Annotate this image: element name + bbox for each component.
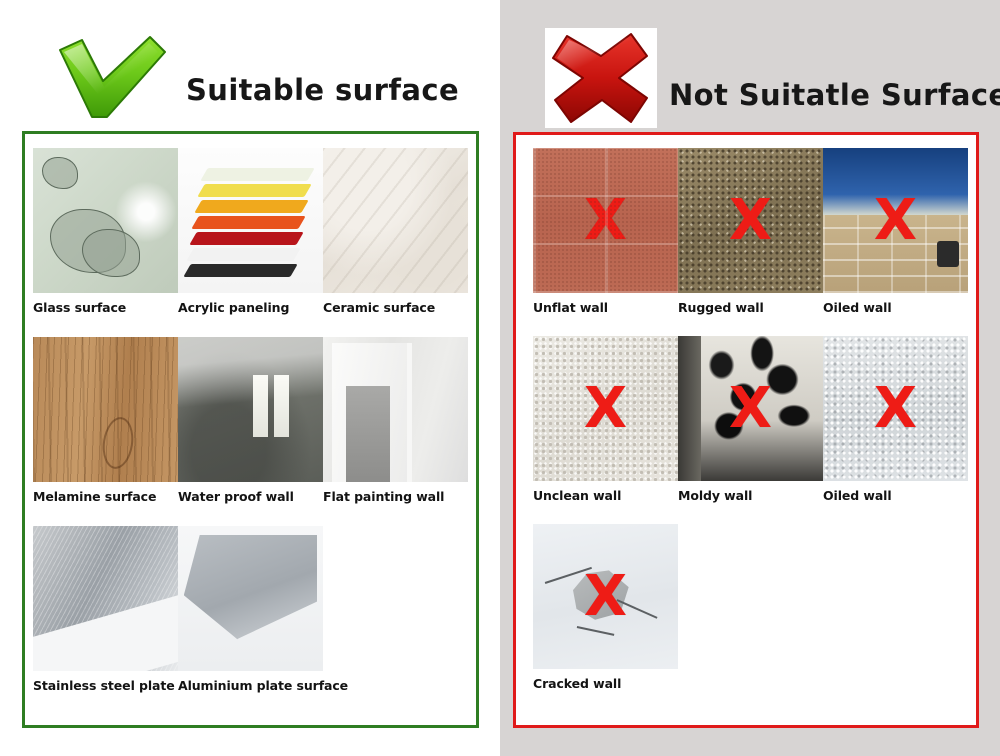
label-unclean-wall: Unclean wall bbox=[533, 488, 678, 503]
red-cross-icon bbox=[545, 28, 657, 128]
suitable-title: Suitable surface bbox=[186, 73, 459, 107]
label-oiled-wall-1: Oiled wall bbox=[823, 300, 968, 315]
suitable-item-melamine-surface: Melamine surface bbox=[33, 337, 178, 504]
label-acrylic-paneling: Acrylic paneling bbox=[178, 300, 323, 315]
label-ceramic-surface: Ceramic surface bbox=[323, 300, 468, 315]
comparison-infographic: Suitable surface bbox=[0, 0, 1000, 756]
label-melamine-surface: Melamine surface bbox=[33, 489, 178, 504]
thumbnail-stainless-steel-plate bbox=[33, 526, 178, 671]
thumbnail-oiled-wall-brick: X bbox=[823, 148, 968, 293]
not-suitable-item-oiled-wall-1: X Oiled wall bbox=[823, 148, 968, 315]
not-suitable-item-unflat-wall: X Unflat wall bbox=[533, 148, 678, 315]
suitable-item-ceramic-surface: Ceramic surface bbox=[323, 148, 468, 315]
thumbnail-acrylic-paneling bbox=[178, 148, 323, 293]
suitable-row-1: Glass surface Acrylic paneling bbox=[25, 134, 476, 315]
suitable-item-glass-surface: Glass surface bbox=[33, 148, 178, 315]
thumbnail-ceramic-surface bbox=[323, 148, 468, 293]
not-suitable-title: Not Suitatle Surface bbox=[669, 78, 1000, 112]
label-oiled-wall-2: Oiled wall bbox=[823, 488, 968, 503]
thumbnail-water-proof-wall bbox=[178, 337, 323, 482]
suitable-panel: Glass surface Acrylic paneling bbox=[22, 131, 479, 728]
suitable-item-flat-painting-wall: Flat painting wall bbox=[323, 337, 468, 504]
x-mark-icon: X bbox=[729, 193, 772, 249]
not-suitable-item-cracked-wall: X Cracked wall bbox=[533, 524, 678, 691]
not-suitable-item-unclean-wall: X Unclean wall bbox=[533, 336, 678, 503]
label-glass-surface: Glass surface bbox=[33, 300, 178, 315]
label-aluminium-plate-surface: Aluminium plate surface bbox=[178, 678, 348, 693]
suitable-item-acrylic-paneling: Acrylic paneling bbox=[178, 148, 323, 315]
suitable-item-water-proof-wall: Water proof wall bbox=[178, 337, 323, 504]
label-stainless-steel-plate: Stainless steel plate bbox=[33, 678, 178, 693]
x-mark-icon: X bbox=[584, 193, 627, 249]
x-mark-icon: X bbox=[584, 381, 627, 437]
thumbnail-moldy-wall: X bbox=[678, 336, 823, 481]
thumbnail-oiled-wall-textured: X bbox=[823, 336, 968, 481]
thumbnail-aluminium-plate-surface bbox=[178, 526, 323, 671]
label-rugged-wall: Rugged wall bbox=[678, 300, 823, 315]
not-suitable-item-oiled-wall-2: X Oiled wall bbox=[823, 336, 968, 503]
thumbnail-flat-painting-wall bbox=[323, 337, 468, 482]
not-suitable-item-rugged-wall: X Rugged wall bbox=[678, 148, 823, 315]
label-flat-painting-wall: Flat painting wall bbox=[323, 489, 468, 504]
suitable-row-3: Stainless steel plate Aluminium plate su… bbox=[25, 504, 476, 693]
suitable-item-stainless-steel-plate: Stainless steel plate bbox=[33, 526, 178, 693]
not-suitable-item-moldy-wall: X Moldy wall bbox=[678, 336, 823, 503]
thumbnail-melamine-surface bbox=[33, 337, 178, 482]
suitable-row-2: Melamine surface Water proof wall Flat p… bbox=[25, 315, 476, 504]
label-water-proof-wall: Water proof wall bbox=[178, 489, 323, 504]
suitable-header: Suitable surface bbox=[52, 34, 459, 120]
label-cracked-wall: Cracked wall bbox=[533, 676, 678, 691]
thumbnail-cracked-wall: X bbox=[533, 524, 678, 669]
not-suitable-row-3: X Cracked wall bbox=[516, 503, 976, 691]
not-suitable-row-1: X Unflat wall X Rugged wall X Oiled wall bbox=[516, 135, 976, 315]
thumbnail-rugged-wall: X bbox=[678, 148, 823, 293]
x-mark-icon: X bbox=[729, 381, 772, 437]
not-suitable-panel: X Unflat wall X Rugged wall X Oiled wall bbox=[513, 132, 979, 728]
not-suitable-header: Not Suitatle Surface bbox=[545, 28, 1000, 128]
thumbnail-glass-surface bbox=[33, 148, 178, 293]
x-mark-icon: X bbox=[874, 381, 917, 437]
label-moldy-wall: Moldy wall bbox=[678, 488, 823, 503]
label-unflat-wall: Unflat wall bbox=[533, 300, 678, 315]
green-check-icon bbox=[52, 34, 170, 120]
thumbnail-unclean-wall: X bbox=[533, 336, 678, 481]
not-suitable-row-2: X Unclean wall X Moldy wall X Oiled wall bbox=[516, 315, 976, 503]
thumbnail-unflat-wall: X bbox=[533, 148, 678, 293]
suitable-item-aluminium-plate-surface: Aluminium plate surface bbox=[178, 526, 348, 693]
